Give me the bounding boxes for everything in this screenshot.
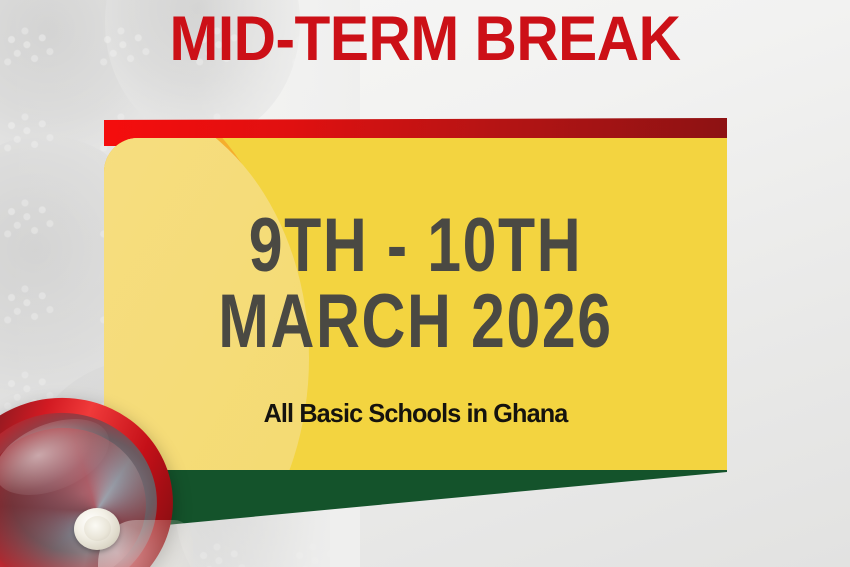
page-title: MID-TERM BREAK	[30, 8, 821, 71]
megaphone-icon	[0, 398, 188, 567]
date-month-year-line: MARCH 2026	[166, 284, 664, 360]
poster-canvas: MID-TERM BREAK 9TH - 10TH MARCH 2026 All…	[0, 0, 850, 567]
card-green-band	[104, 470, 727, 528]
megaphone-center-cap-inner	[84, 516, 111, 541]
card-subtitle: All Basic Schools in Ghana	[113, 398, 717, 429]
card-text-block: 9TH - 10TH MARCH 2026 All Basic Schools …	[104, 138, 727, 472]
announcement-card: 9TH - 10TH MARCH 2026 All Basic Schools …	[104, 118, 727, 513]
date-range-line: 9TH - 10TH	[166, 208, 664, 284]
